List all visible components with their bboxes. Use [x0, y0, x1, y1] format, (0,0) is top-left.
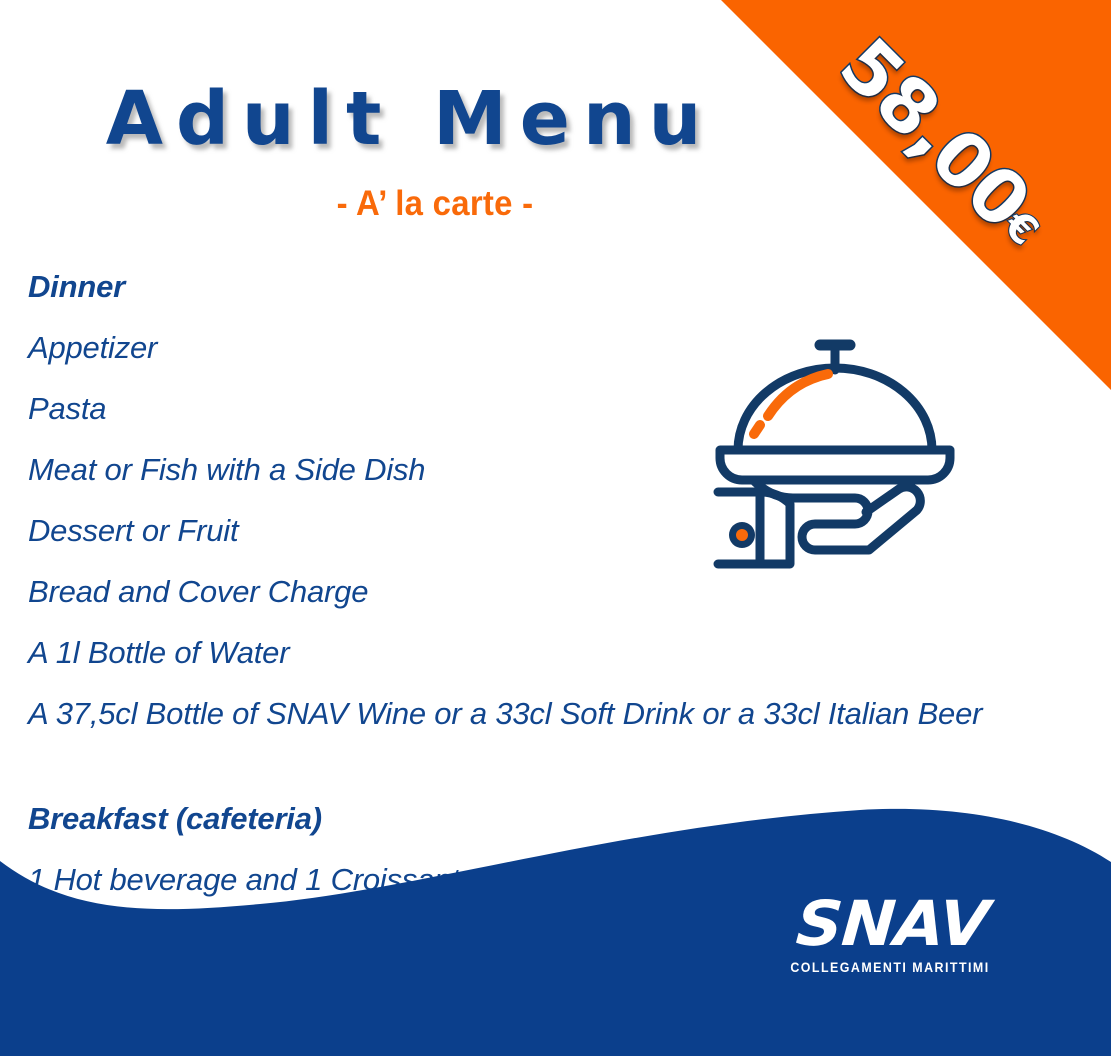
price-badge-text: 58,00€	[801, 0, 1087, 286]
cuff-button-center-icon	[736, 529, 748, 541]
section-heading-dinner: Dinner	[28, 256, 1098, 317]
dome-highlight-tick-icon	[754, 425, 760, 434]
cloche-icon-svg	[712, 330, 974, 582]
price-amount: 58,00	[823, 22, 1046, 245]
footer-wave-svg	[0, 796, 1111, 1056]
cloche-serving-tray-icon	[712, 330, 974, 582]
menu-item: A 1l Bottle of Water	[28, 622, 1098, 683]
page-subtitle: - A’ la carte -	[26, 186, 844, 221]
menu-item: A 37,5cl Bottle of SNAV Wine or a 33cl S…	[28, 683, 1098, 744]
cloche-platter-icon	[720, 450, 950, 480]
price-currency-symbol: €	[995, 202, 1047, 254]
wave-shape	[0, 809, 1111, 1056]
footer-wave	[0, 796, 1111, 1056]
hand-fingers-icon	[753, 480, 920, 550]
page-title: Adult Menu	[0, 82, 820, 156]
menu-poster: 58,00€ Adult Menu - A’ la carte - Dinner…	[0, 0, 1111, 1056]
